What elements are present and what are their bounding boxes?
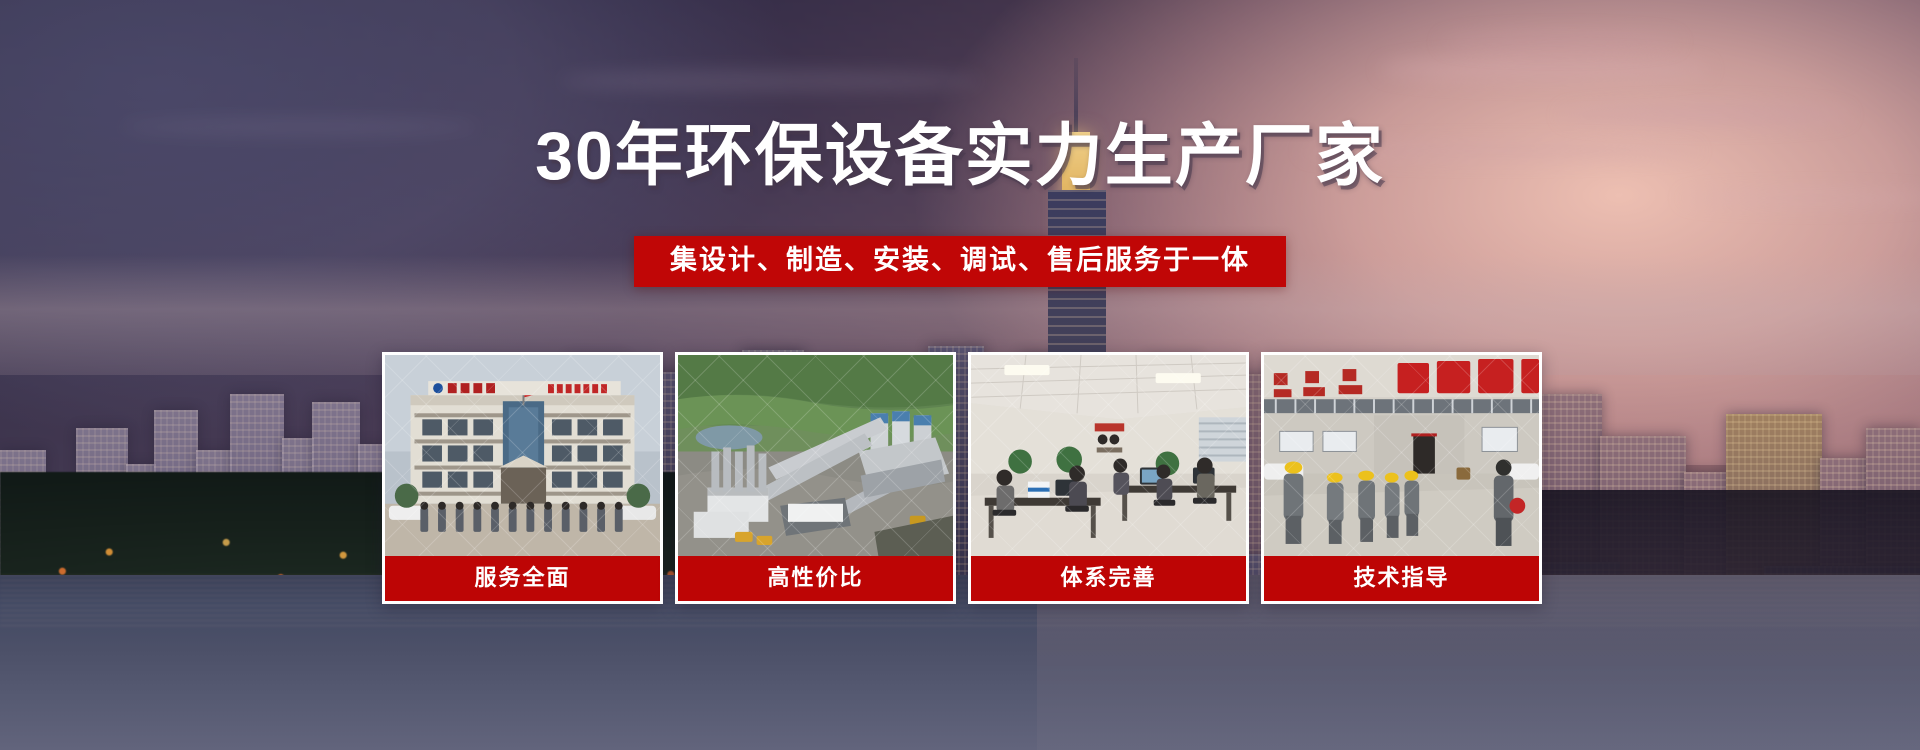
subtitle-banner: 集设计、制造、安装、调试、售后服务于一体 xyxy=(634,236,1286,287)
feature-card[interactable]: 高性价比 xyxy=(675,352,956,604)
card-photo-office-interior xyxy=(971,355,1246,556)
feature-card-list: 服务全面 xyxy=(382,352,1542,604)
card-photo-industrial-plant xyxy=(678,355,953,556)
card-label: 高性价比 xyxy=(678,556,953,601)
factory-workers-illustration xyxy=(1264,355,1539,556)
feature-card[interactable]: 技术指导 xyxy=(1261,352,1542,604)
office-interior-illustration xyxy=(971,355,1246,556)
feature-card[interactable]: 服务全面 xyxy=(382,352,663,604)
card-label: 技术指导 xyxy=(1264,556,1539,601)
industrial-plant-illustration xyxy=(678,355,953,556)
headline-container: 30年环保设备实力生产厂家 xyxy=(0,122,1920,190)
card-label: 体系完善 xyxy=(971,556,1246,601)
card-photo-office-building xyxy=(385,355,660,556)
hero-banner: 30年环保设备实力生产厂家 集设计、制造、安装、调试、售后服务于一体 xyxy=(0,0,1920,750)
office-building-illustration xyxy=(385,355,660,556)
subtitle-container: 集设计、制造、安装、调试、售后服务于一体 xyxy=(0,236,1920,287)
card-photo-factory-workers xyxy=(1264,355,1539,556)
feature-card[interactable]: 体系完善 xyxy=(968,352,1249,604)
card-label: 服务全面 xyxy=(385,556,660,601)
page-title: 30年环保设备实力生产厂家 xyxy=(535,122,1385,190)
